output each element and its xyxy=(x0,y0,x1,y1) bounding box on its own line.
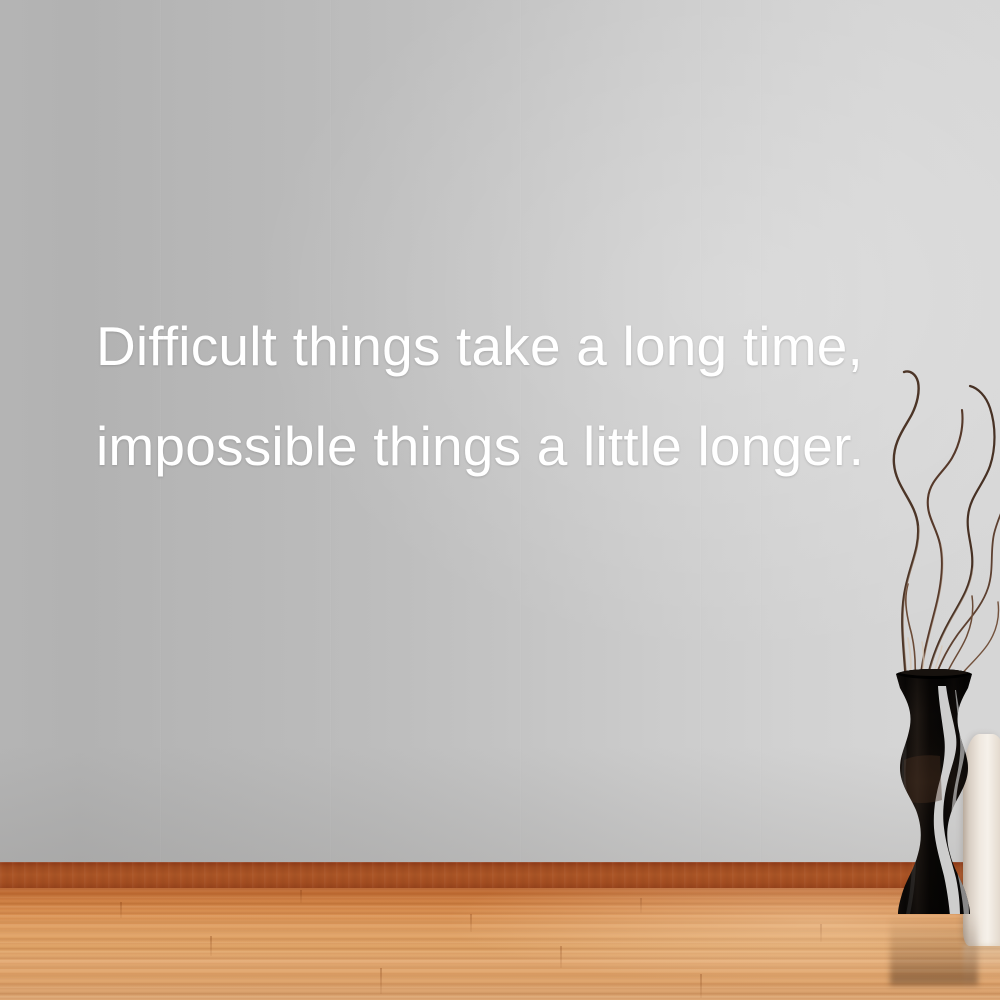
wooden-baseboard xyxy=(0,862,1000,890)
room-scene: Difficult things take a long time, impos… xyxy=(0,0,1000,1000)
black-vase xyxy=(886,664,982,920)
floor-seam xyxy=(470,914,472,932)
baseboard-grain xyxy=(0,862,1000,890)
wall-quote-text: Difficult things take a long time, impos… xyxy=(96,296,916,496)
quote-line-2: impossible things a little longer. xyxy=(96,396,916,496)
floor-seam xyxy=(700,974,702,998)
hardwood-floor xyxy=(0,888,1000,1000)
quote-line-1: Difficult things take a long time, xyxy=(96,296,916,396)
floor-seam xyxy=(300,890,302,903)
wall-floor-shadow xyxy=(0,746,1000,866)
floor-seam xyxy=(120,902,122,918)
floor-seam xyxy=(560,946,562,968)
floor-seam xyxy=(210,936,212,956)
floor-seam xyxy=(820,924,822,942)
floor-seam xyxy=(640,898,642,913)
floor-seam xyxy=(380,968,382,994)
floor-grain xyxy=(0,888,1000,1000)
